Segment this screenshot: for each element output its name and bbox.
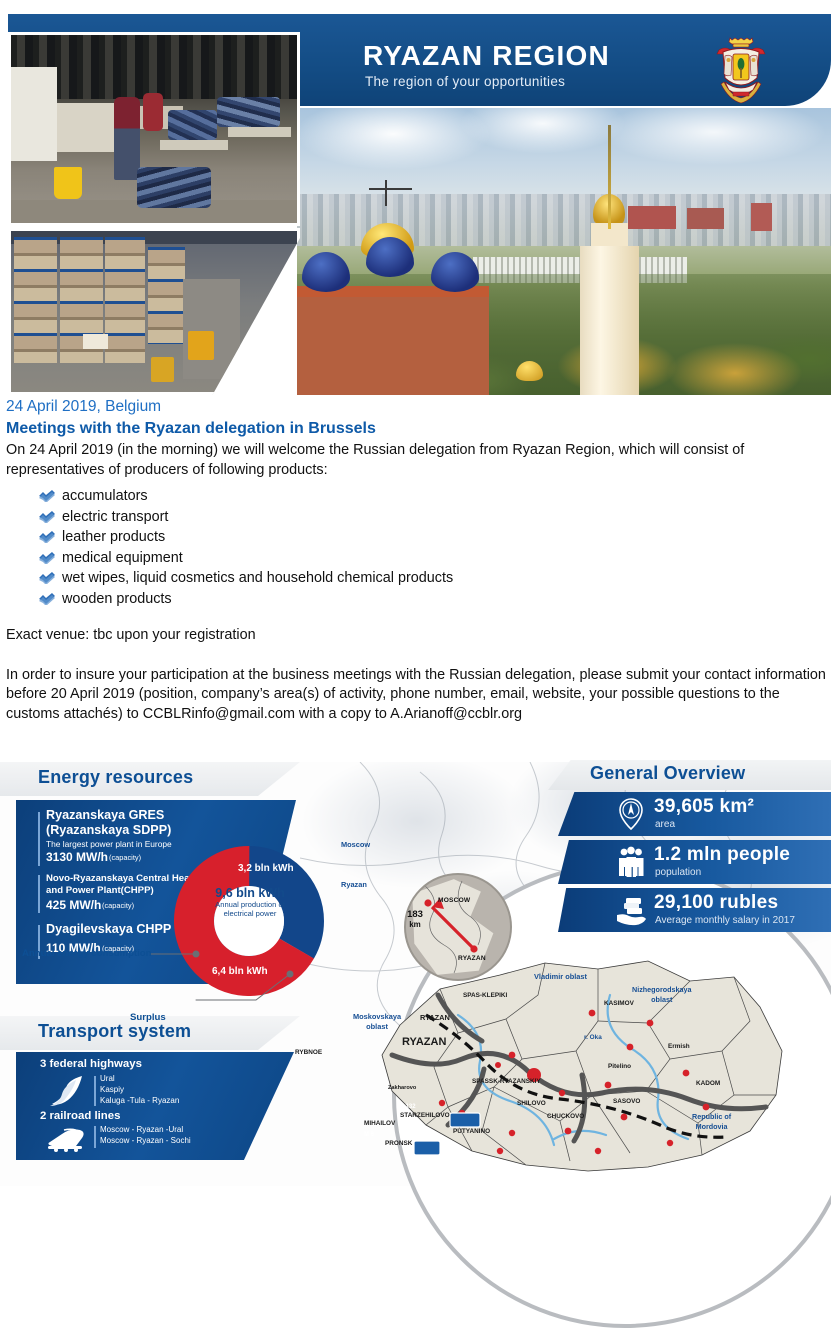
blue-check-arrow-icon: [38, 530, 55, 543]
money-hand-icon: [614, 893, 648, 927]
transport-item: Ural: [100, 1074, 115, 1083]
people-icon: [614, 845, 648, 879]
map-city-label: SPAS-KLEPIKI: [463, 992, 507, 999]
list-item: wet wipes, liquid cosmetics and househol…: [38, 568, 828, 589]
callout-label-surplus: Surplus: [130, 1012, 166, 1023]
list-item-label: leather products: [62, 529, 165, 545]
overview-value: 29,100 rubles: [654, 892, 778, 914]
textile-factory-photo: [8, 32, 300, 226]
ryazan-coat-of-arms: [711, 34, 771, 106]
inset-distance-value: 183: [407, 909, 423, 920]
overview-value: 1.2 mln people: [654, 844, 790, 866]
overview-sublabel: area: [655, 819, 675, 830]
train-icon: [42, 1126, 90, 1152]
inset-city-label: MOSCOW: [438, 897, 470, 904]
map-pin-icon: [614, 797, 648, 831]
map-city-label: KASIMOV: [604, 1000, 634, 1007]
map-city-label: Ermish: [668, 1043, 690, 1050]
list-item-label: medical equipment: [62, 550, 183, 566]
divider: [94, 1126, 96, 1148]
donut-slice-label-surplus: 3,2 bln kWh: [238, 863, 294, 874]
overview-panel-title: General Overview: [590, 763, 745, 784]
map-river-label: r. Oka: [584, 1034, 602, 1041]
callout-label-consumption: Annual energy consumption: [22, 948, 152, 959]
article-headline: Meetings with the Ryazan delegation in B…: [6, 420, 828, 438]
map-city-label: Zakharovo: [388, 1085, 416, 1091]
road-shield-label: P 132: [400, 1104, 416, 1110]
blue-check-arrow-icon: [38, 551, 55, 564]
blue-check-arrow-icon: [38, 571, 55, 584]
article-kicker: 24 April 2019, Belgium: [6, 398, 828, 416]
overview-sublabel: population: [655, 867, 701, 878]
list-item: accumulators: [38, 486, 828, 507]
article-body: 24 April 2019, Belgium Meetings with the…: [6, 398, 828, 724]
map-capital-label: RYAZAN: [402, 1036, 446, 1048]
overview-panel-header: General Overview: [548, 760, 831, 790]
map-city-label: PUTYANINO: [453, 1128, 490, 1135]
map-region-label: Vladimir oblast: [534, 972, 587, 981]
blue-check-arrow-icon: [38, 592, 55, 605]
map-city-label: RYAZAN: [420, 1013, 450, 1022]
list-item-label: wet wipes, liquid cosmetics and househol…: [62, 570, 453, 586]
map-region-label: Nizhegorodskayaoblast: [632, 985, 692, 1005]
list-item-label: wooden products: [62, 591, 172, 607]
map-city-label: PRONSK: [385, 1140, 412, 1147]
map-city-label: SASOVO: [613, 1098, 640, 1105]
donut-slice-label-consumption: 6,4 bln kWh: [212, 966, 268, 977]
closing-paragraph: In order to insure your participation at…: [6, 666, 828, 725]
donut-callout-lines: [0, 762, 400, 1062]
page-title: RYAZAN REGION: [363, 40, 610, 72]
transport-item: Moscow - Ryazan -Ural: [100, 1125, 183, 1134]
list-item: wooden products: [38, 589, 828, 610]
overview-row-area: 39,605 km² area: [558, 792, 831, 836]
map-city-label: SPASSK-RYAZANSKIY: [472, 1078, 541, 1085]
overview-sublabel: Average monthly salary in 2017: [655, 915, 795, 926]
warehouse-photo: [8, 228, 300, 395]
map-city-label: MIHAILOV: [364, 1120, 395, 1127]
transport-group-heading: 2 railroad lines: [40, 1110, 120, 1122]
map-city-label: Pitelino: [608, 1063, 631, 1070]
divider: [94, 1076, 96, 1106]
header-hero: RYAZAN REGION The region of your opportu…: [0, 0, 831, 395]
overview-row-salary: 29,100 rubles Average monthly salary in …: [558, 888, 831, 932]
highway-icon: [42, 1074, 88, 1108]
overview-value: 39,605 km²: [654, 796, 754, 818]
map-city-label: STARZEHILOVO: [400, 1112, 450, 1119]
inset-city-label: RYAZAN: [458, 955, 486, 962]
ryazan-region-map: [330, 955, 810, 1186]
venue-note: Exact venue: tbc upon your registration: [6, 626, 828, 646]
transport-item: Kaspiy: [100, 1085, 124, 1094]
list-item: leather products: [38, 527, 828, 548]
inset-distance-unit: km: [409, 920, 421, 929]
list-item-label: electric transport: [62, 509, 168, 525]
list-item: medical equipment: [38, 548, 828, 569]
ryazan-kremlin-photo: [297, 108, 831, 395]
map-city-label: SHILOVO: [517, 1100, 546, 1107]
blue-check-arrow-icon: [38, 510, 55, 523]
map-city-label: KADOM: [696, 1080, 720, 1087]
list-item: electric transport: [38, 507, 828, 528]
inset-distance: 183 km: [398, 910, 432, 930]
product-list: accumulators electric transport leather …: [6, 486, 828, 609]
page-subtitle: The region of your opportunities: [365, 74, 565, 89]
transport-item: Kaluga -Tula - Ryazan: [100, 1096, 179, 1105]
overview-row-population: 1.2 mln people population: [558, 840, 831, 884]
map-city-label: CHUCKOVO: [547, 1113, 584, 1120]
article-intro: On 24 April 2019 (in the morning) we wil…: [6, 441, 828, 480]
map-region-label: Republic ofMordovia: [692, 1112, 731, 1132]
transport-item: Moscow - Ryazan - Sochi: [100, 1136, 191, 1145]
blue-check-arrow-icon: [38, 489, 55, 502]
list-item-label: accumulators: [62, 488, 148, 504]
road-shield-label: M 6: [364, 1132, 374, 1138]
